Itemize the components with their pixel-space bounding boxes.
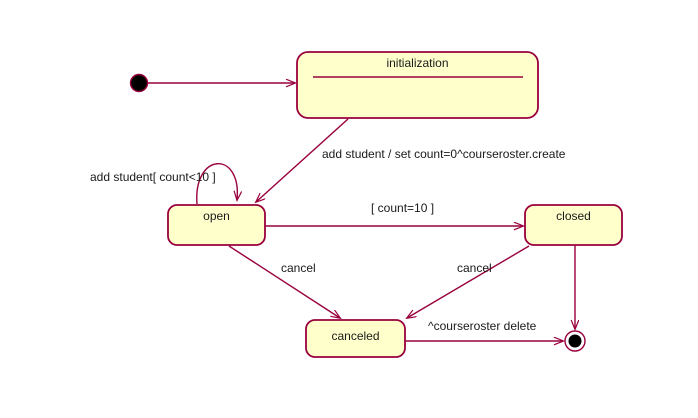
state-node-open[interactable]: open: [168, 205, 265, 245]
state-label-open: open: [203, 209, 230, 223]
edge-line: [407, 246, 529, 318]
state-node-initialization[interactable]: initialization: [297, 52, 538, 118]
state-label-canceled: canceled: [331, 329, 379, 343]
transition-label-cancel-closed: cancel: [457, 261, 492, 275]
transition-open-to-canceled: cancel: [229, 246, 340, 318]
state-node-closed[interactable]: closed: [525, 205, 622, 245]
initial-state-circle: [131, 75, 148, 92]
transition-label-add-student-count-lt-10: add student[ count<10 ]: [90, 170, 216, 184]
uml-state-diagram: add student / set count=0^courseroster.c…: [0, 0, 698, 418]
final-state-node[interactable]: [565, 331, 585, 351]
transition-closed-to-canceled: cancel: [407, 246, 529, 318]
transition-open-to-closed: [ count=10 ]: [265, 201, 523, 226]
initial-state-node[interactable]: [131, 75, 148, 92]
transition-canceled-to-final: ^courseroster delete: [405, 319, 563, 341]
transition-label-count-eq-10: [ count=10 ]: [371, 201, 434, 215]
edge-line: [229, 246, 340, 318]
transition-label-add-student-create: add student / set count=0^courseroster.c…: [322, 147, 566, 161]
diagram-canvas: add student / set count=0^courseroster.c…: [0, 0, 698, 418]
state-label-closed: closed: [556, 209, 591, 223]
transition-label-cancel-open: cancel: [281, 261, 316, 275]
state-node-canceled[interactable]: canceled: [306, 320, 405, 357]
state-label-initialization: initialization: [386, 56, 448, 70]
transition-open-self-loop: add student[ count<10 ]: [90, 164, 237, 204]
final-state-core: [569, 335, 582, 348]
transition-initialization-to-open: add student / set count=0^courseroster.c…: [256, 119, 566, 202]
transition-label-courseroster-delete: ^courseroster delete: [428, 319, 537, 333]
